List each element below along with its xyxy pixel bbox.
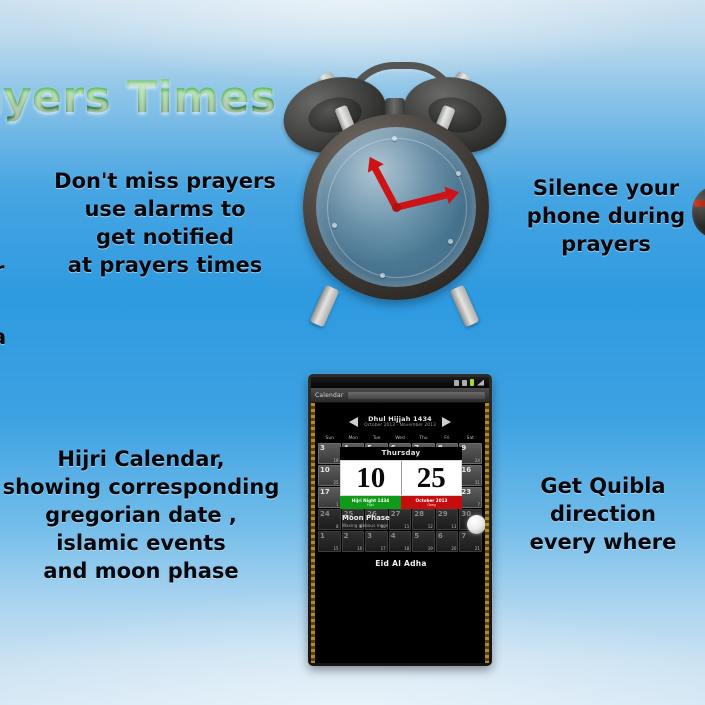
day-hijri-number: 16 [461, 466, 471, 474]
day-gregorian-number: 18 [333, 458, 338, 463]
day-gregorian-number: 19 [428, 546, 433, 551]
hijri-tag-title: Hijri Night 1434 [352, 498, 389, 503]
day-gregorian-number: 31 [475, 480, 480, 485]
calendar-day-cell[interactable]: 1025 [318, 465, 341, 486]
calendar-day-cell[interactable]: 237 [459, 487, 482, 508]
caption-alarm: Don't miss prayers use alarms to get not… [20, 168, 310, 280]
day-gregorian-number: 25 [333, 480, 338, 485]
today-panel: Thursday 10 25 Hijri Night 1434 Hijri [340, 447, 462, 540]
promo-banner: ayers Times ayers Times Don't miss praye… [0, 0, 705, 705]
today-hijri-day: 10 [341, 461, 401, 495]
gregorian-tag-sub: Greg [401, 503, 462, 507]
caption-quibla: Get Quibla direction every where [508, 473, 698, 557]
page-title: ayers Times [0, 72, 277, 123]
clock-case [303, 114, 489, 300]
weekday-label: Thu [412, 436, 435, 441]
clock-screw-left [332, 223, 337, 228]
day-gregorian-number: 8 [336, 524, 339, 529]
signal-icon [477, 380, 484, 386]
day-hijri-number: 7 [461, 532, 466, 540]
gregorian-tag-title: October 2013 [416, 498, 448, 503]
clock-screw-top [392, 136, 397, 141]
hijri-tag: Hijri Night 1434 Hijri [340, 496, 401, 509]
month-label-group: Dhul Hijjah 1434 October 2013 - November… [364, 416, 436, 429]
today-gregorian-day: 25 [402, 461, 462, 495]
weekday-label: Wed [388, 436, 411, 441]
day-hijri-number: 3 [320, 444, 325, 452]
hijri-tag-sub: Hijri [340, 503, 401, 507]
calendar-day-cell[interactable]: 171 [318, 487, 341, 508]
next-month-arrow-icon[interactable] [442, 417, 451, 427]
clock-face [316, 127, 476, 287]
calendar-day-cell[interactable]: 318 [318, 443, 341, 464]
weekday-label: Sat [459, 436, 482, 441]
calendar-inner: Dhul Hijjah 1434 October 2013 - November… [315, 403, 485, 663]
day-hijri-number: 23 [461, 488, 471, 496]
phone-mockup: Calendar Dhul Hijjah 1434 October 2013 -… [308, 374, 492, 666]
alarm-icon [454, 380, 459, 386]
edge-text-fragment-left-lower: a [0, 325, 6, 349]
weekday-label: Fri [435, 436, 458, 441]
edge-text-fragment-left-mid: r [0, 258, 4, 282]
today-weekday-label: Thursday [340, 447, 462, 460]
day-gregorian-number: 1 [336, 502, 339, 507]
today-tag-row: Hijri Night 1434 Hijri October 2013 Greg [340, 496, 462, 509]
weekday-label: Mon [341, 436, 364, 441]
clock-center-pin [392, 203, 401, 212]
moon-phase-row: Moon Phase Waxing gibbous moon [340, 514, 462, 540]
gregorian-tag: October 2013 Greg [401, 496, 462, 509]
clock-screw-low [380, 273, 385, 278]
calendar-day-cell[interactable]: 248 [318, 509, 341, 530]
day-gregorian-number: 7 [477, 502, 480, 507]
day-gregorian-number: 15 [333, 546, 338, 551]
weekday-label: Sun [318, 436, 341, 441]
calendar-body: Dhul Hijjah 1434 October 2013 - November… [311, 403, 489, 663]
alarm-clock-illustration [281, 58, 509, 340]
clock-foot-right [450, 285, 480, 328]
clock-screw-bottom [448, 239, 453, 244]
phone-screen: Calendar Dhul Hijjah 1434 October 2013 -… [311, 377, 489, 663]
day-gregorian-number: 24 [475, 458, 480, 463]
moon-phase-icon [467, 515, 485, 534]
app-title-bar-fill [348, 392, 485, 399]
day-gregorian-number: 17 [381, 546, 386, 551]
day-hijri-number: 17 [320, 488, 330, 496]
islamic-event-banner: Eid Al Adha [331, 557, 471, 571]
prev-month-arrow-icon[interactable] [349, 417, 358, 427]
app-title-label: Calendar [315, 392, 344, 399]
weekday-header: SunMonTueWedThuFriSat [315, 436, 485, 441]
day-hijri-number: 24 [320, 510, 330, 518]
moon-phase-subtitle: Waxing gibbous moon [342, 523, 462, 528]
clock-screw-right [456, 171, 461, 176]
day-gregorian-number: 18 [404, 546, 409, 551]
day-hijri-number: 1 [320, 532, 325, 540]
day-hijri-number: 10 [320, 466, 330, 474]
day-gregorian-number: 16 [357, 546, 362, 551]
compass-needle [694, 200, 705, 207]
calendar-day-cell[interactable]: 115 [318, 531, 341, 552]
battery-icon [470, 379, 474, 386]
calendar-day-cell[interactable]: 924 [459, 443, 482, 464]
caption-hijri: Hijri Calendar, showing corresponding gr… [0, 446, 300, 586]
calendar-day-cell[interactable]: 1631 [459, 465, 482, 486]
android-status-bar [311, 377, 489, 388]
moon-phase-title: Moon Phase [342, 514, 462, 522]
month-navigation: Dhul Hijjah 1434 October 2013 - November… [315, 409, 485, 435]
caption-silence: Silence your phone during prayers [508, 175, 704, 259]
weekday-label: Tue [365, 436, 388, 441]
day-hijri-number: 9 [461, 444, 466, 452]
sync-icon [462, 380, 467, 386]
clock-foot-left [310, 285, 340, 328]
app-title-bar: Calendar [311, 388, 489, 403]
day-gregorian-number: 21 [475, 546, 480, 551]
day-gregorian-number: 20 [451, 546, 456, 551]
month-secondary-label: October 2013 - November 2013 [364, 423, 436, 428]
today-big-numbers: 10 25 [340, 460, 462, 496]
calendar-day-cell[interactable]: 721 [459, 531, 482, 552]
